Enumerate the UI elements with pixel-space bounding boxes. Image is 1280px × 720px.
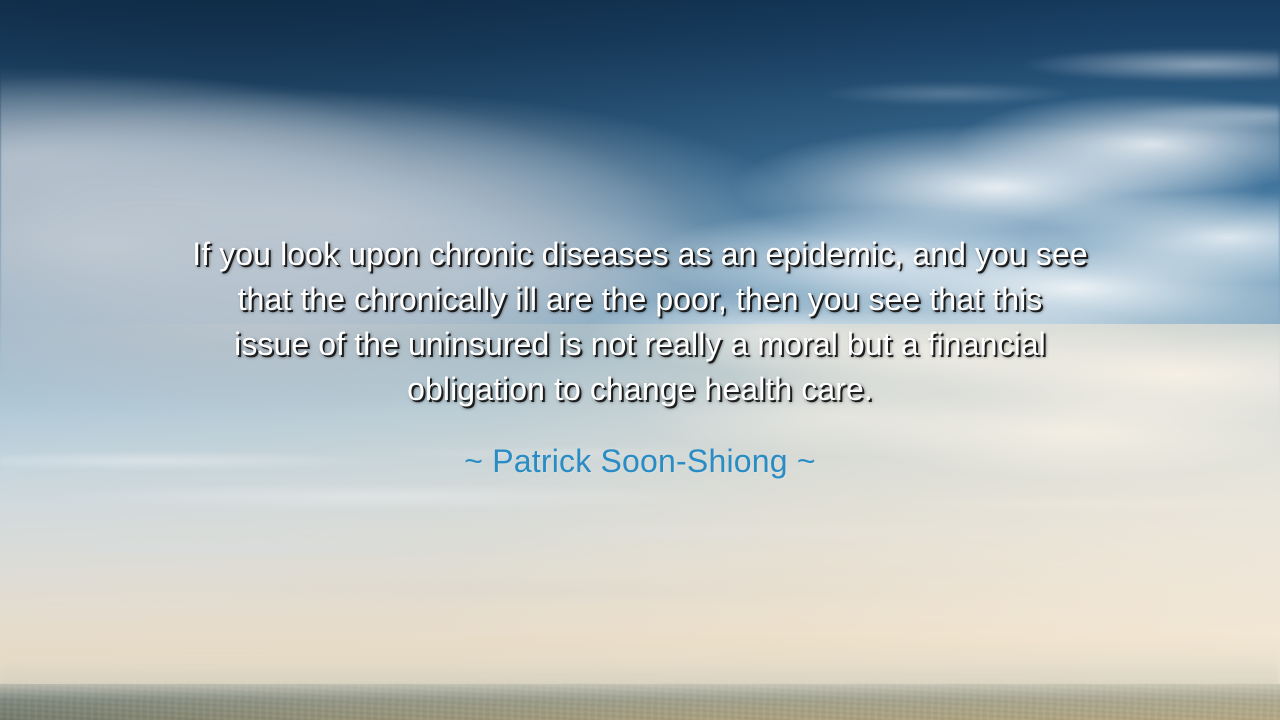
quote-line-2: that the chronically ill are the poor, t… bbox=[90, 277, 1190, 322]
quote-content: If you look upon chronic diseases as an … bbox=[0, 0, 1280, 720]
quote-image-canvas: If you look upon chronic diseases as an … bbox=[0, 0, 1280, 720]
quote-line-4: obligation to change health care. bbox=[90, 367, 1190, 412]
quote-line-3: issue of the uninsured is not really a m… bbox=[90, 322, 1190, 367]
quote-attribution: ~ Patrick Soon-Shiong ~ bbox=[464, 440, 815, 482]
quote-line-1: If you look upon chronic diseases as an … bbox=[90, 232, 1190, 277]
quote-text-block: If you look upon chronic diseases as an … bbox=[90, 232, 1190, 412]
